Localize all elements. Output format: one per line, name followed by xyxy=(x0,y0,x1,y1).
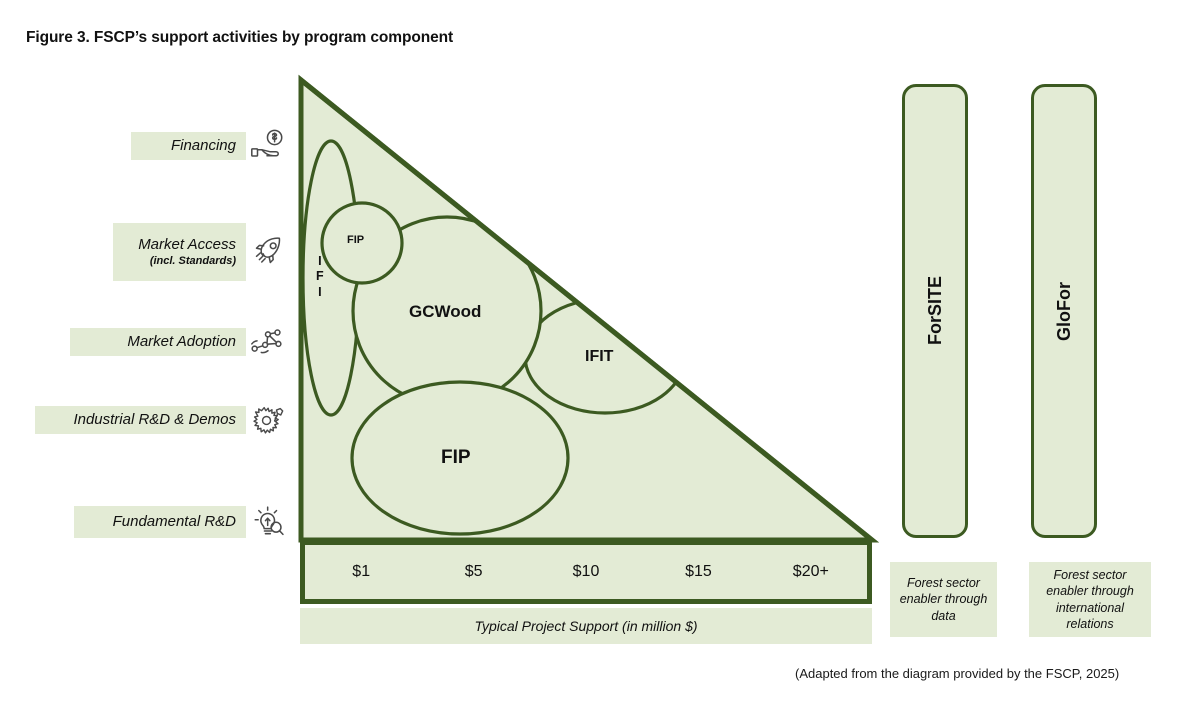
enabler-pill-label: GloFor xyxy=(1054,282,1075,341)
triangle-envelope-outline xyxy=(301,80,872,540)
saw-blade-icon xyxy=(248,401,286,439)
activity-sublabel-text: (incl. Standards) xyxy=(150,254,236,268)
activity-row-financing[interactable]: Financing xyxy=(126,130,286,162)
axis-tick-4: $15 xyxy=(642,563,754,581)
activity-row-fundamental-rd[interactable]: Fundamental R&D xyxy=(64,504,286,540)
triangle-envelope xyxy=(301,80,872,540)
activity-row-market-adoption[interactable]: Market Adoption xyxy=(64,326,286,358)
axis-caption: Typical Project Support (in million $) xyxy=(300,608,872,644)
ifi-letter-1: I xyxy=(316,254,324,269)
shape-label-ifit: IFIT xyxy=(585,348,613,366)
activity-row-market-access[interactable]: Market Access (incl. Standards) xyxy=(108,222,286,282)
activity-label-box: Market Access (incl. Standards) xyxy=(113,223,246,281)
ifi-letter-3: I xyxy=(316,285,324,300)
rocket-icon xyxy=(248,233,286,271)
enabler-caption-text: Forest sector enabler through internatio… xyxy=(1035,567,1145,633)
enabler-caption-forsite: Forest sector enabler through data xyxy=(890,562,997,637)
shape-label-ifi: I F I xyxy=(316,254,324,300)
activity-label-box: Industrial R&D & Demos xyxy=(35,406,246,434)
enabler-caption-text: Forest sector enabler through data xyxy=(896,575,991,625)
shape-ifi xyxy=(303,141,359,415)
shape-label-fip-small: FIP xyxy=(347,234,364,246)
enabler-pill-forsite[interactable]: ForSITE xyxy=(902,84,968,538)
activity-label-text: Fundamental R&D xyxy=(113,513,236,530)
activity-label-box: Financing xyxy=(131,132,246,160)
enabler-caption-glofor: Forest sector enabler through internatio… xyxy=(1029,562,1151,637)
page-title: Figure 3. FSCP’s support activities by p… xyxy=(26,29,453,47)
axis-caption-text: Typical Project Support (in million $) xyxy=(474,618,697,634)
activity-label-box: Market Adoption xyxy=(70,328,246,356)
activity-label-text: Industrial R&D & Demos xyxy=(73,411,236,428)
enabler-pill-label: ForSITE xyxy=(925,276,946,345)
shape-label-gcwood: GCWood xyxy=(409,302,481,322)
activity-row-industrial-rd[interactable]: Industrial R&D & Demos xyxy=(35,404,286,436)
axis-tick-bar: $1 $5 $10 $15 $20+ xyxy=(300,540,872,604)
activity-label-text: Market Adoption xyxy=(127,333,236,350)
hand-holding-money-icon xyxy=(248,127,286,165)
activity-label-box: Fundamental R&D xyxy=(74,506,246,538)
source-note: (Adapted from the diagram provided by th… xyxy=(795,666,1119,681)
ifi-letter-2: F xyxy=(316,269,324,284)
lightbulb-magnifier-icon xyxy=(248,503,286,541)
activity-label-text: Financing xyxy=(171,137,236,154)
enabler-pill-glofor[interactable]: GloFor xyxy=(1031,84,1097,538)
axis-tick-1: $1 xyxy=(305,563,417,581)
axis-tick-2: $5 xyxy=(417,563,529,581)
axis-tick-3: $10 xyxy=(530,563,642,581)
network-nodes-icon xyxy=(248,323,286,361)
activity-label-text: Market Access xyxy=(138,236,236,253)
axis-tick-5: $20+ xyxy=(755,563,867,581)
shape-label-fip-large: FIP xyxy=(441,447,471,469)
